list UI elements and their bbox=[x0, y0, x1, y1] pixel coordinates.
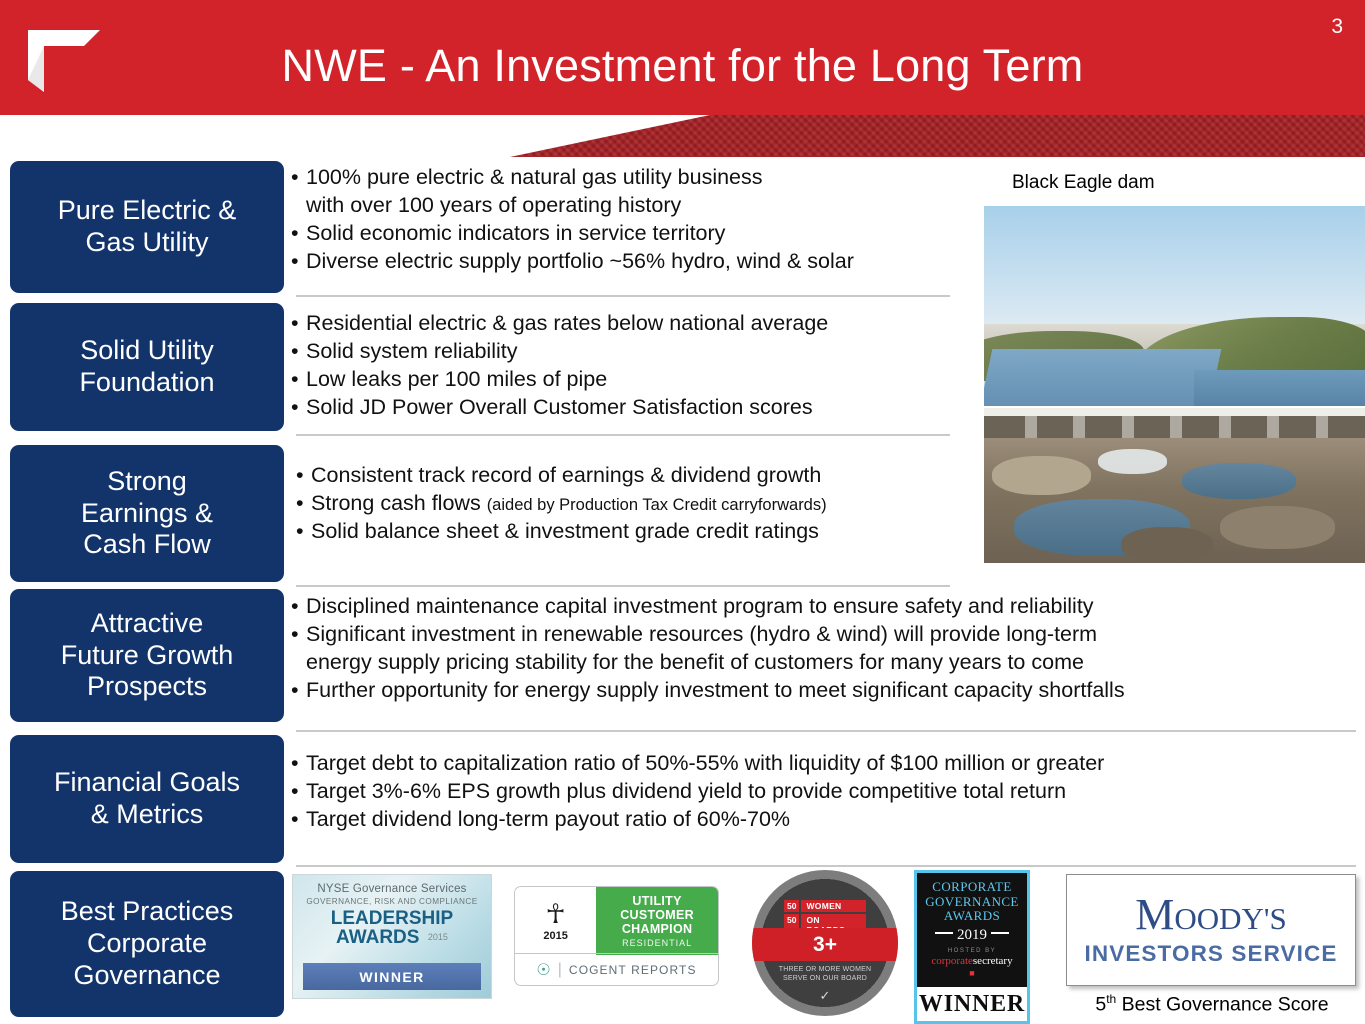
bullet-subnote: (aided by Production Tax Credit carryfor… bbox=[487, 496, 827, 514]
wob-count: 3+ bbox=[752, 928, 898, 961]
badge-cogent-title2: CUSTOMER bbox=[620, 908, 694, 922]
row-attractive-future-growth-prospects: Attractive Future Growth Prospects Disci… bbox=[0, 589, 1365, 729]
bullet-item: Low leaks per 100 miles of pipe bbox=[291, 365, 828, 393]
moody-name-rest: OODY bbox=[1174, 901, 1264, 936]
bullet-continuation: with over 100 years of operating history bbox=[291, 191, 854, 219]
label-line: Attractive bbox=[91, 608, 204, 638]
moody-caption-text: Best Governance Score bbox=[1116, 994, 1328, 1016]
row-separator bbox=[296, 585, 950, 587]
badge-nyse-line3: LEADERSHIP bbox=[293, 909, 491, 928]
label-attractive-future-growth-prospects[interactable]: Attractive Future Growth Prospects bbox=[10, 589, 284, 722]
badge-nyse-ribbon: WINNER bbox=[303, 963, 481, 990]
badge-nyse-line4: AWARDS bbox=[336, 928, 419, 947]
bullet-item: Diverse electric supply portfolio ~56% h… bbox=[291, 247, 854, 275]
badge-moodys-investors-service: MOODY'S INVESTORS SERVICE bbox=[1066, 874, 1356, 986]
checkmark-icon: ✓ bbox=[752, 988, 898, 1004]
bullet-item: Significant investment in renewable reso… bbox=[291, 620, 1125, 648]
page-number: 3 bbox=[1331, 16, 1343, 37]
wob-num1: 50 bbox=[784, 900, 799, 912]
badge-nyse-line2: GOVERNANCE, RISK AND COMPLIANCE bbox=[293, 897, 491, 906]
badge-nyse-leadership-awards: NYSE Governance Services GOVERNANCE, RIS… bbox=[292, 874, 492, 999]
header-accent-strip bbox=[0, 115, 1365, 157]
cga-host-a: corporate bbox=[931, 955, 973, 967]
cga-host-b: secretary bbox=[973, 955, 1013, 967]
bullet-item: Target dividend long-term payout ratio o… bbox=[291, 805, 1104, 833]
wob-caption2: SERVE ON OUR BOARD bbox=[783, 975, 867, 982]
badge-cogent-title1: UTILITY bbox=[632, 894, 681, 908]
label-line: Strong bbox=[107, 466, 187, 496]
wob-label1: WOMEN bbox=[801, 900, 866, 912]
bullets-attractive-future-growth-prospects: Disciplined maintenance capital investme… bbox=[291, 592, 1125, 705]
bullet-item: Target debt to capitalization ratio of 5… bbox=[291, 749, 1104, 777]
label-best-practices-corporate-governance[interactable]: Best Practices Corporate Governance bbox=[10, 871, 284, 1017]
label-line: Future Growth bbox=[61, 640, 234, 670]
label-line: Solid Utility bbox=[80, 335, 214, 365]
badge-cogent-utility-customer-champion: ☥ 2015 UTILITY CUSTOMER CHAMPION RESIDEN… bbox=[514, 886, 719, 986]
moody-caption-sup: th bbox=[1106, 992, 1116, 1006]
label-line: Foundation bbox=[79, 367, 214, 397]
label-line: Best Practices bbox=[61, 896, 234, 926]
row-financial-goals-metrics: Financial Goals & Metrics Target debt to… bbox=[0, 735, 1365, 867]
cga-line2: GOVERNANCE bbox=[925, 894, 1019, 909]
cga-line1: CORPORATE bbox=[932, 879, 1011, 894]
row-separator bbox=[296, 434, 950, 436]
bullet-item: Further opportunity for energy supply in… bbox=[291, 676, 1125, 704]
badge-cogent-title3: CHAMPION bbox=[622, 922, 692, 936]
cogent-logo-icon: ☉ bbox=[536, 960, 550, 980]
wob-caption1: THREE OR MORE WOMEN bbox=[779, 966, 871, 973]
badge-nyse-year: 2015 bbox=[428, 932, 448, 942]
moody-name-m: M bbox=[1135, 890, 1174, 939]
bullets-pure-electric-gas-utility: 100% pure electric & natural gas utility… bbox=[291, 163, 854, 276]
row-separator bbox=[296, 730, 1356, 732]
bullet-item: Disciplined maintenance capital investme… bbox=[291, 592, 1125, 620]
badge-nyse-line1: NYSE Governance Services bbox=[293, 883, 491, 895]
label-line: Earnings & bbox=[81, 498, 213, 528]
badge-cogent-source: COGENT REPORTS bbox=[569, 963, 697, 977]
label-financial-goals-metrics[interactable]: Financial Goals & Metrics bbox=[10, 735, 284, 863]
bullet-item: Consistent track record of earnings & di… bbox=[296, 461, 827, 489]
label-solid-utility-foundation[interactable]: Solid Utility Foundation bbox=[10, 303, 284, 431]
moody-caption: 5th Best Governance Score bbox=[1066, 992, 1358, 1017]
bullet-item: Solid system reliability bbox=[291, 337, 828, 365]
label-strong-earnings-cash-flow[interactable]: Strong Earnings & Cash Flow bbox=[10, 445, 284, 582]
badge-cogent-subtitle: RESIDENTIAL bbox=[622, 938, 692, 948]
label-line: Corporate bbox=[87, 928, 207, 958]
cga-line3: AWARDS bbox=[944, 908, 1000, 923]
moody-name-tail: 'S bbox=[1264, 901, 1287, 936]
bullets-strong-earnings-cash-flow: Consistent track record of earnings & di… bbox=[296, 461, 827, 545]
label-line: Financial Goals bbox=[54, 767, 240, 797]
bullet-main: Strong cash flows bbox=[311, 491, 481, 515]
photo-caption: Black Eagle dam bbox=[1012, 172, 1155, 194]
label-line: Pure Electric & bbox=[58, 195, 237, 225]
awards-badge-row: NYSE Governance Services GOVERNANCE, RIS… bbox=[292, 870, 1365, 1024]
cga-host-label: HOSTED BY bbox=[917, 948, 1027, 954]
page-title: NWE - An Investment for the Long Term bbox=[0, 42, 1365, 89]
bullet-item: Target 3%-6% EPS growth plus dividend yi… bbox=[291, 777, 1104, 805]
black-eagle-dam-photo bbox=[984, 206, 1365, 563]
bullet-item: Residential electric & gas rates below n… bbox=[291, 309, 828, 337]
label-line: Gas Utility bbox=[85, 227, 208, 257]
bullet-item: Strong cash flows (aided by Production T… bbox=[296, 489, 827, 517]
torch-laurel-icon: ☥ bbox=[546, 901, 566, 928]
bullet-item: Solid balance sheet & investment grade c… bbox=[296, 517, 827, 545]
cga-winner: WINNER bbox=[917, 987, 1027, 1021]
badge-women-on-boards: 50 WOMEN 50 ON BOARDS 3+ THREE OR MORE W… bbox=[752, 870, 898, 1016]
bullets-financial-goals-metrics: Target debt to capitalization ratio of 5… bbox=[291, 749, 1104, 833]
row-separator bbox=[296, 865, 1356, 867]
label-line: & Metrics bbox=[91, 799, 204, 829]
badge-cogent-year: 2015 bbox=[543, 930, 567, 942]
bullet-continuation: energy supply pricing stability for the … bbox=[291, 648, 1125, 676]
moody-subtitle: INVESTORS SERVICE bbox=[1085, 941, 1338, 967]
moody-caption-num: 5 bbox=[1095, 994, 1106, 1016]
cga-dot-icon: ■ bbox=[917, 968, 1027, 978]
label-pure-electric-gas-utility[interactable]: Pure Electric & Gas Utility bbox=[10, 161, 284, 293]
cga-year: 2019 bbox=[957, 927, 987, 943]
header-band: NWE - An Investment for the Long Term 3 bbox=[0, 0, 1365, 115]
bullet-item: Solid JD Power Overall Customer Satisfac… bbox=[291, 393, 828, 421]
row-separator bbox=[296, 295, 950, 297]
label-line: Cash Flow bbox=[83, 529, 211, 559]
badge-corporate-governance-awards: CORPORATE GOVERNANCE AWARDS 2019 HOSTED … bbox=[914, 870, 1030, 1024]
bullets-solid-utility-foundation: Residential electric & gas rates below n… bbox=[291, 309, 828, 422]
label-line: Prospects bbox=[87, 671, 207, 701]
label-line: Governance bbox=[73, 960, 220, 990]
bullet-item: Solid economic indicators in service ter… bbox=[291, 219, 854, 247]
bullet-item: 100% pure electric & natural gas utility… bbox=[291, 163, 854, 191]
